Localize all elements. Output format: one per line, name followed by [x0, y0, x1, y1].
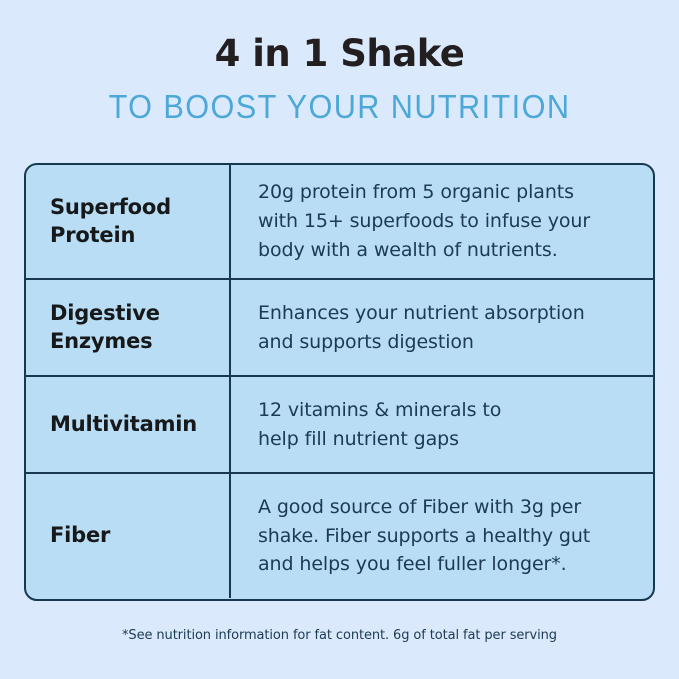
benefit-description-line: and supports digestion: [258, 328, 585, 357]
benefit-description-line: shake. Fiber supports a healthy gut: [258, 522, 590, 551]
benefit-name-line: Enzymes: [50, 328, 160, 356]
benefit-description-line: Enhances your nutrient absorption: [258, 299, 585, 328]
table-row: Fiber A good source of Fiber with 3g per…: [26, 474, 653, 598]
benefit-name-line: Fiber: [50, 522, 110, 550]
page-subtitle: To Boost Your Nutrition: [24, 89, 655, 125]
benefit-description-line: and helps you feel fuller longer*.: [258, 550, 590, 579]
table-row: Superfood Protein 20g protein from 5 org…: [26, 165, 653, 280]
benefit-description-line: with 15+ superfoods to infuse your: [258, 207, 590, 236]
benefit-description-cell: 20g protein from 5 organic plants with 1…: [231, 165, 653, 278]
benefits-table-body: Superfood Protein 20g protein from 5 org…: [26, 165, 653, 599]
benefit-description-cell: Enhances your nutrient absorption and su…: [231, 280, 653, 375]
benefit-description-line: help fill nutrient gaps: [258, 425, 501, 454]
benefit-name-line: Protein: [50, 222, 171, 250]
table-row: Multivitamin 12 vitamins & minerals to h…: [26, 377, 653, 474]
benefit-description-line: 20g protein from 5 organic plants: [258, 178, 590, 207]
benefit-description-cell: 12 vitamins & minerals to help fill nutr…: [231, 377, 653, 472]
benefit-name-cell: Fiber: [26, 474, 231, 598]
benefit-name-line: Multivitamin: [50, 411, 197, 439]
footnote: *See nutrition information for fat conte…: [0, 628, 679, 643]
benefit-name-cell: Multivitamin: [26, 377, 231, 472]
page-title: 4 in 1 Shake: [0, 34, 679, 75]
benefit-description-line: A good source of Fiber with 3g per: [258, 493, 590, 522]
benefits-table: Superfood Protein 20g protein from 5 org…: [24, 163, 655, 601]
benefit-name-cell: Superfood Protein: [26, 165, 231, 278]
benefit-name-line: Digestive: [50, 300, 160, 328]
benefit-name-line: Superfood: [50, 194, 171, 222]
benefit-name-cell: Digestive Enzymes: [26, 280, 231, 375]
benefit-description-cell: A good source of Fiber with 3g per shake…: [231, 474, 653, 598]
benefit-description-line: 12 vitamins & minerals to: [258, 396, 501, 425]
table-row: Digestive Enzymes Enhances your nutrient…: [26, 280, 653, 377]
infographic-page: 4 in 1 Shake To Boost Your Nutrition Sup…: [0, 0, 679, 679]
benefit-description-line: body with a wealth of nutrients.: [258, 236, 590, 265]
